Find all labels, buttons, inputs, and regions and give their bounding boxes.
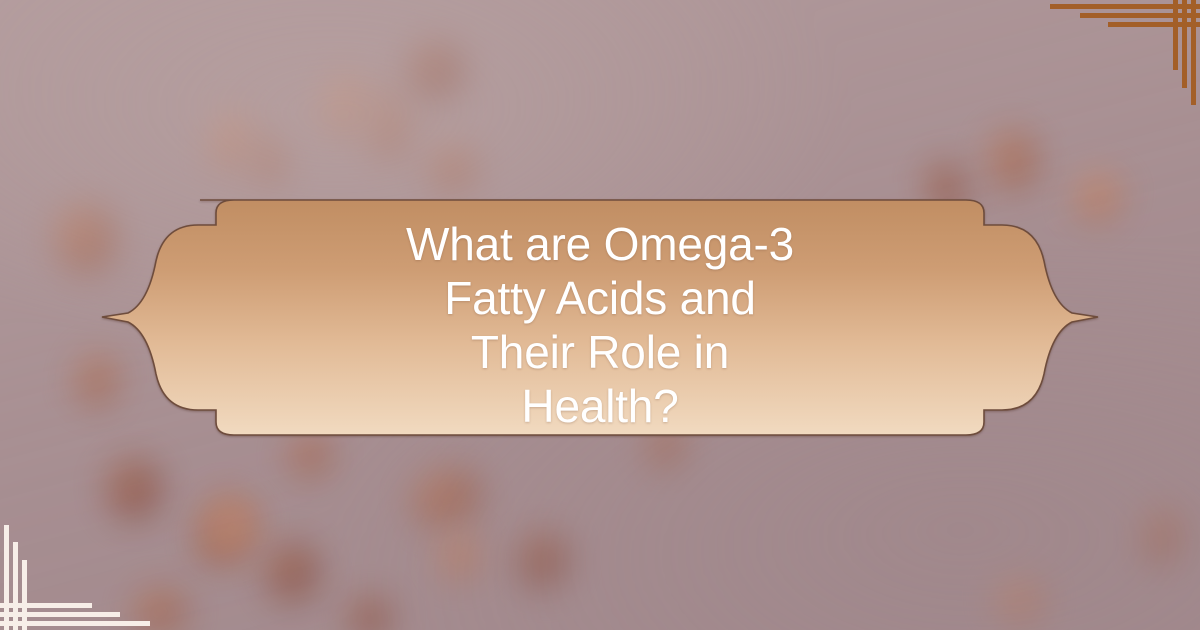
background-blob bbox=[258, 537, 325, 607]
background-blob bbox=[421, 138, 482, 198]
background-blob bbox=[438, 531, 481, 582]
background-blob bbox=[133, 587, 187, 630]
title-block: What are Omega-3 Fatty Acids and Their R… bbox=[100, 199, 1100, 436]
background-blob bbox=[102, 454, 166, 523]
background-blob bbox=[995, 577, 1045, 623]
background-blob bbox=[1138, 504, 1186, 567]
background-blob bbox=[982, 125, 1044, 195]
page-title: What are Omega-3 Fatty Acids and Their R… bbox=[320, 217, 880, 433]
background-blob bbox=[348, 596, 392, 630]
background-blob bbox=[206, 107, 256, 174]
background-blob bbox=[362, 89, 413, 163]
background-blob bbox=[404, 459, 490, 536]
background-blob bbox=[318, 71, 372, 139]
background-blob bbox=[514, 528, 572, 591]
social-card-canvas: What are Omega-3 Fatty Acids and Their R… bbox=[0, 0, 1200, 630]
background-blob bbox=[288, 433, 332, 477]
background-blob bbox=[406, 42, 464, 102]
